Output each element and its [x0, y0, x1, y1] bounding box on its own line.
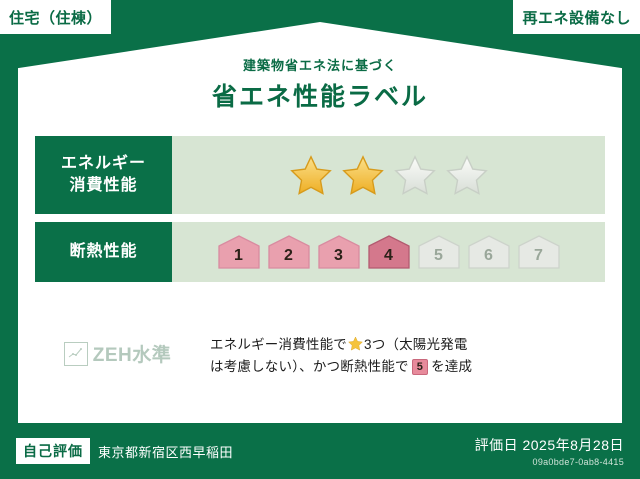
- evaluation-id: 09a0bde7-0ab8-4415: [475, 457, 624, 467]
- insulation-grade-badge-2: 2: [266, 233, 312, 271]
- row-insulation-label: 断熱性能: [35, 222, 172, 282]
- insulation-grade-badge-1: 1: [216, 233, 262, 271]
- zeh-chart-icon: [64, 342, 88, 366]
- row-energy-label-line2: 消費性能: [69, 175, 137, 197]
- footer-left: 自己評価 東京都新宿区西早稲田: [0, 438, 233, 464]
- zeh-line2-before: は考慮しない）、かつ断熱性能で: [210, 359, 409, 374]
- self-evaluation-badge: 自己評価: [16, 438, 90, 464]
- insulation-grade-scale: 1234567: [172, 222, 605, 282]
- row-energy-performance: エネルギー 消費性能: [35, 136, 605, 214]
- title-main: 省エネ性能ラベル: [0, 77, 640, 113]
- zeh-standard-note: ZEH水準 エネルギー消費性能で3つ（太陽光発電 は考慮しない）、かつ断熱性能で…: [35, 332, 605, 379]
- zeh-line2-after: を達成: [431, 359, 472, 374]
- insulation-grade-badge-5: 5: [416, 233, 462, 271]
- zeh-line1-after: 3つ（太陽光発電: [364, 337, 468, 352]
- zeh-description-line2: は考慮しない）、かつ断熱性能で5を達成: [210, 356, 472, 378]
- zeh-line1-before: エネルギー消費性能で: [210, 337, 347, 352]
- property-address: 東京都新宿区西早稲田: [98, 442, 233, 461]
- zeh-mark: ZEH水準: [35, 332, 200, 367]
- insulation-grade-value: 4: [384, 247, 393, 271]
- star-icon-filled: [289, 154, 333, 196]
- star-icon-filled: [341, 154, 385, 196]
- insulation-grade-value: 2: [284, 247, 293, 271]
- zeh-mark-label: ZEH水準: [93, 340, 172, 367]
- label-footer: 自己評価 東京都新宿区西早稲田 評価日 2025年8月28日 09a0bde7-…: [0, 423, 640, 479]
- inline-grade-badge: 5: [412, 359, 428, 375]
- insulation-grade-value: 3: [334, 247, 343, 271]
- zeh-description: エネルギー消費性能で3つ（太陽光発電 は考慮しない）、かつ断熱性能で5を達成: [210, 332, 472, 379]
- energy-star-rating: [172, 136, 605, 214]
- building-type-tag: 住宅（住棟）: [0, 0, 111, 34]
- page-title: 建築物省エネ法に基づく 省エネ性能ラベル: [0, 55, 640, 113]
- rating-rows: エネルギー 消費性能 断熱性能 1234567: [35, 136, 605, 290]
- insulation-grade-value: 5: [434, 247, 443, 271]
- row-energy-label: エネルギー 消費性能: [35, 136, 172, 214]
- evaluation-date: 評価日 2025年8月28日: [475, 435, 624, 455]
- insulation-grade-value: 6: [484, 247, 493, 271]
- row-energy-label-line1: エネルギー: [61, 153, 146, 175]
- footer-right: 評価日 2025年8月28日 09a0bde7-0ab8-4415: [475, 435, 640, 467]
- energy-label-root: 住宅（住棟） 再エネ設備なし 建築物省エネ法に基づく 省エネ性能ラベル エネルギ…: [0, 0, 640, 479]
- insulation-grade-badge-7: 7: [516, 233, 562, 271]
- insulation-grade-badge-3: 3: [316, 233, 362, 271]
- insulation-grade-badge-4: 4: [366, 233, 412, 271]
- star-icon-empty: [393, 154, 437, 196]
- insulation-grade-value: 7: [534, 247, 543, 271]
- insulation-grade-badge-6: 6: [466, 233, 512, 271]
- zeh-description-line1: エネルギー消費性能で3つ（太陽光発電: [210, 334, 472, 356]
- title-subtitle: 建築物省エネ法に基づく: [0, 55, 640, 74]
- star-icon-empty: [445, 154, 489, 196]
- row-insulation-label-line1: 断熱性能: [69, 241, 137, 263]
- renewable-energy-tag: 再エネ設備なし: [513, 0, 640, 34]
- insulation-grade-value: 1: [234, 247, 243, 271]
- inline-star-icon: [348, 336, 363, 351]
- row-insulation-performance: 断熱性能 1234567: [35, 222, 605, 282]
